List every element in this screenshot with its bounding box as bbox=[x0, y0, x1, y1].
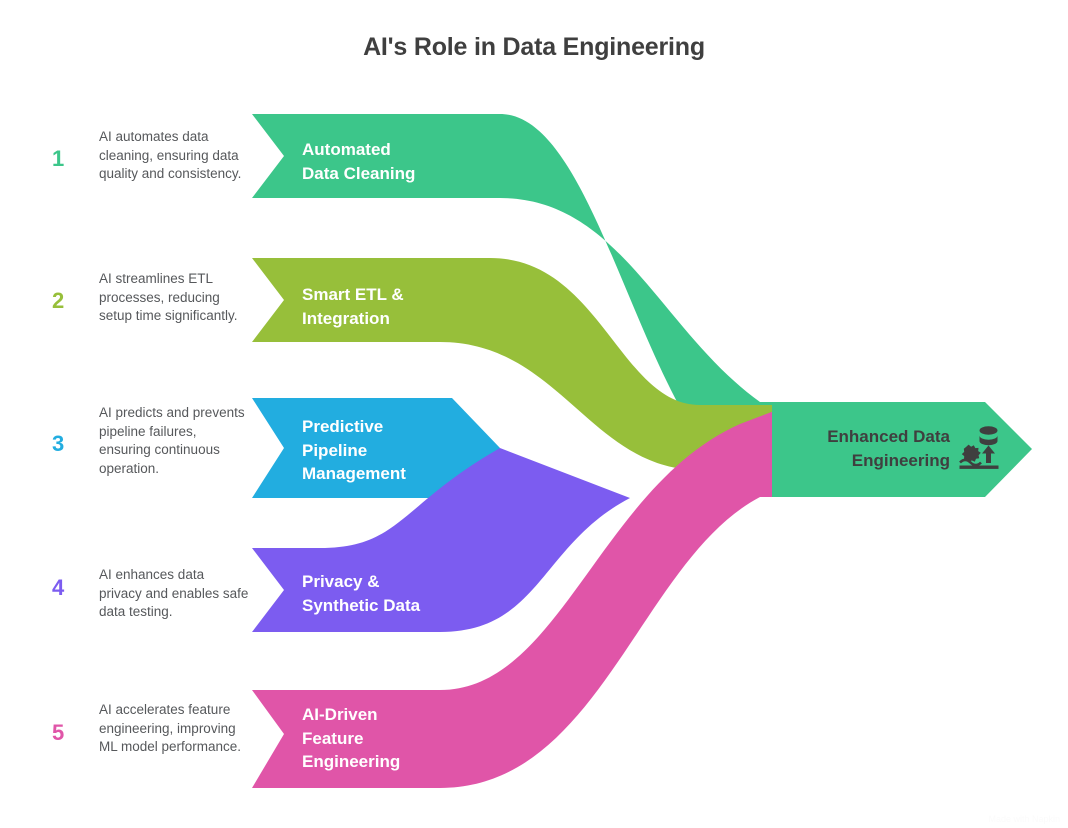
band-label-predictive-pipeline-management: Predictive Pipeline Management bbox=[302, 415, 406, 486]
legend-text-2: AI streamlines ETL processes, reducing s… bbox=[99, 270, 249, 326]
legend-text-4: AI enhances data privacy and enables saf… bbox=[99, 566, 249, 622]
legend-number-2: 2 bbox=[52, 288, 82, 314]
watermark: Made with Napkin bbox=[988, 814, 1060, 824]
hub-label: Enhanced Data Engineering bbox=[760, 425, 950, 472]
legend-text-5: AI accelerates feature engineering, impr… bbox=[99, 701, 249, 757]
legend-number-1: 1 bbox=[52, 146, 82, 172]
band-label-automated-data-cleaning: Automated Data Cleaning bbox=[302, 138, 415, 185]
band-label-ai-driven-feature-engineering: AI-Driven Feature Engineering bbox=[302, 703, 400, 774]
legend-number-4: 4 bbox=[52, 575, 82, 601]
diagram-canvas: AI's Role in Data Engineering Automated … bbox=[0, 0, 1068, 828]
legend-text-3: AI predicts and prevents pipeline failur… bbox=[99, 404, 249, 478]
legend-text-1: AI automates data cleaning, ensuring dat… bbox=[99, 128, 249, 184]
band-label-smart-etl-integration: Smart ETL & Integration bbox=[302, 283, 404, 330]
legend-number-3: 3 bbox=[52, 431, 82, 457]
legend-number-5: 5 bbox=[52, 720, 82, 746]
band-label-privacy-synthetic-data: Privacy & Synthetic Data bbox=[302, 570, 420, 617]
data-pipeline-icon bbox=[958, 424, 1000, 470]
